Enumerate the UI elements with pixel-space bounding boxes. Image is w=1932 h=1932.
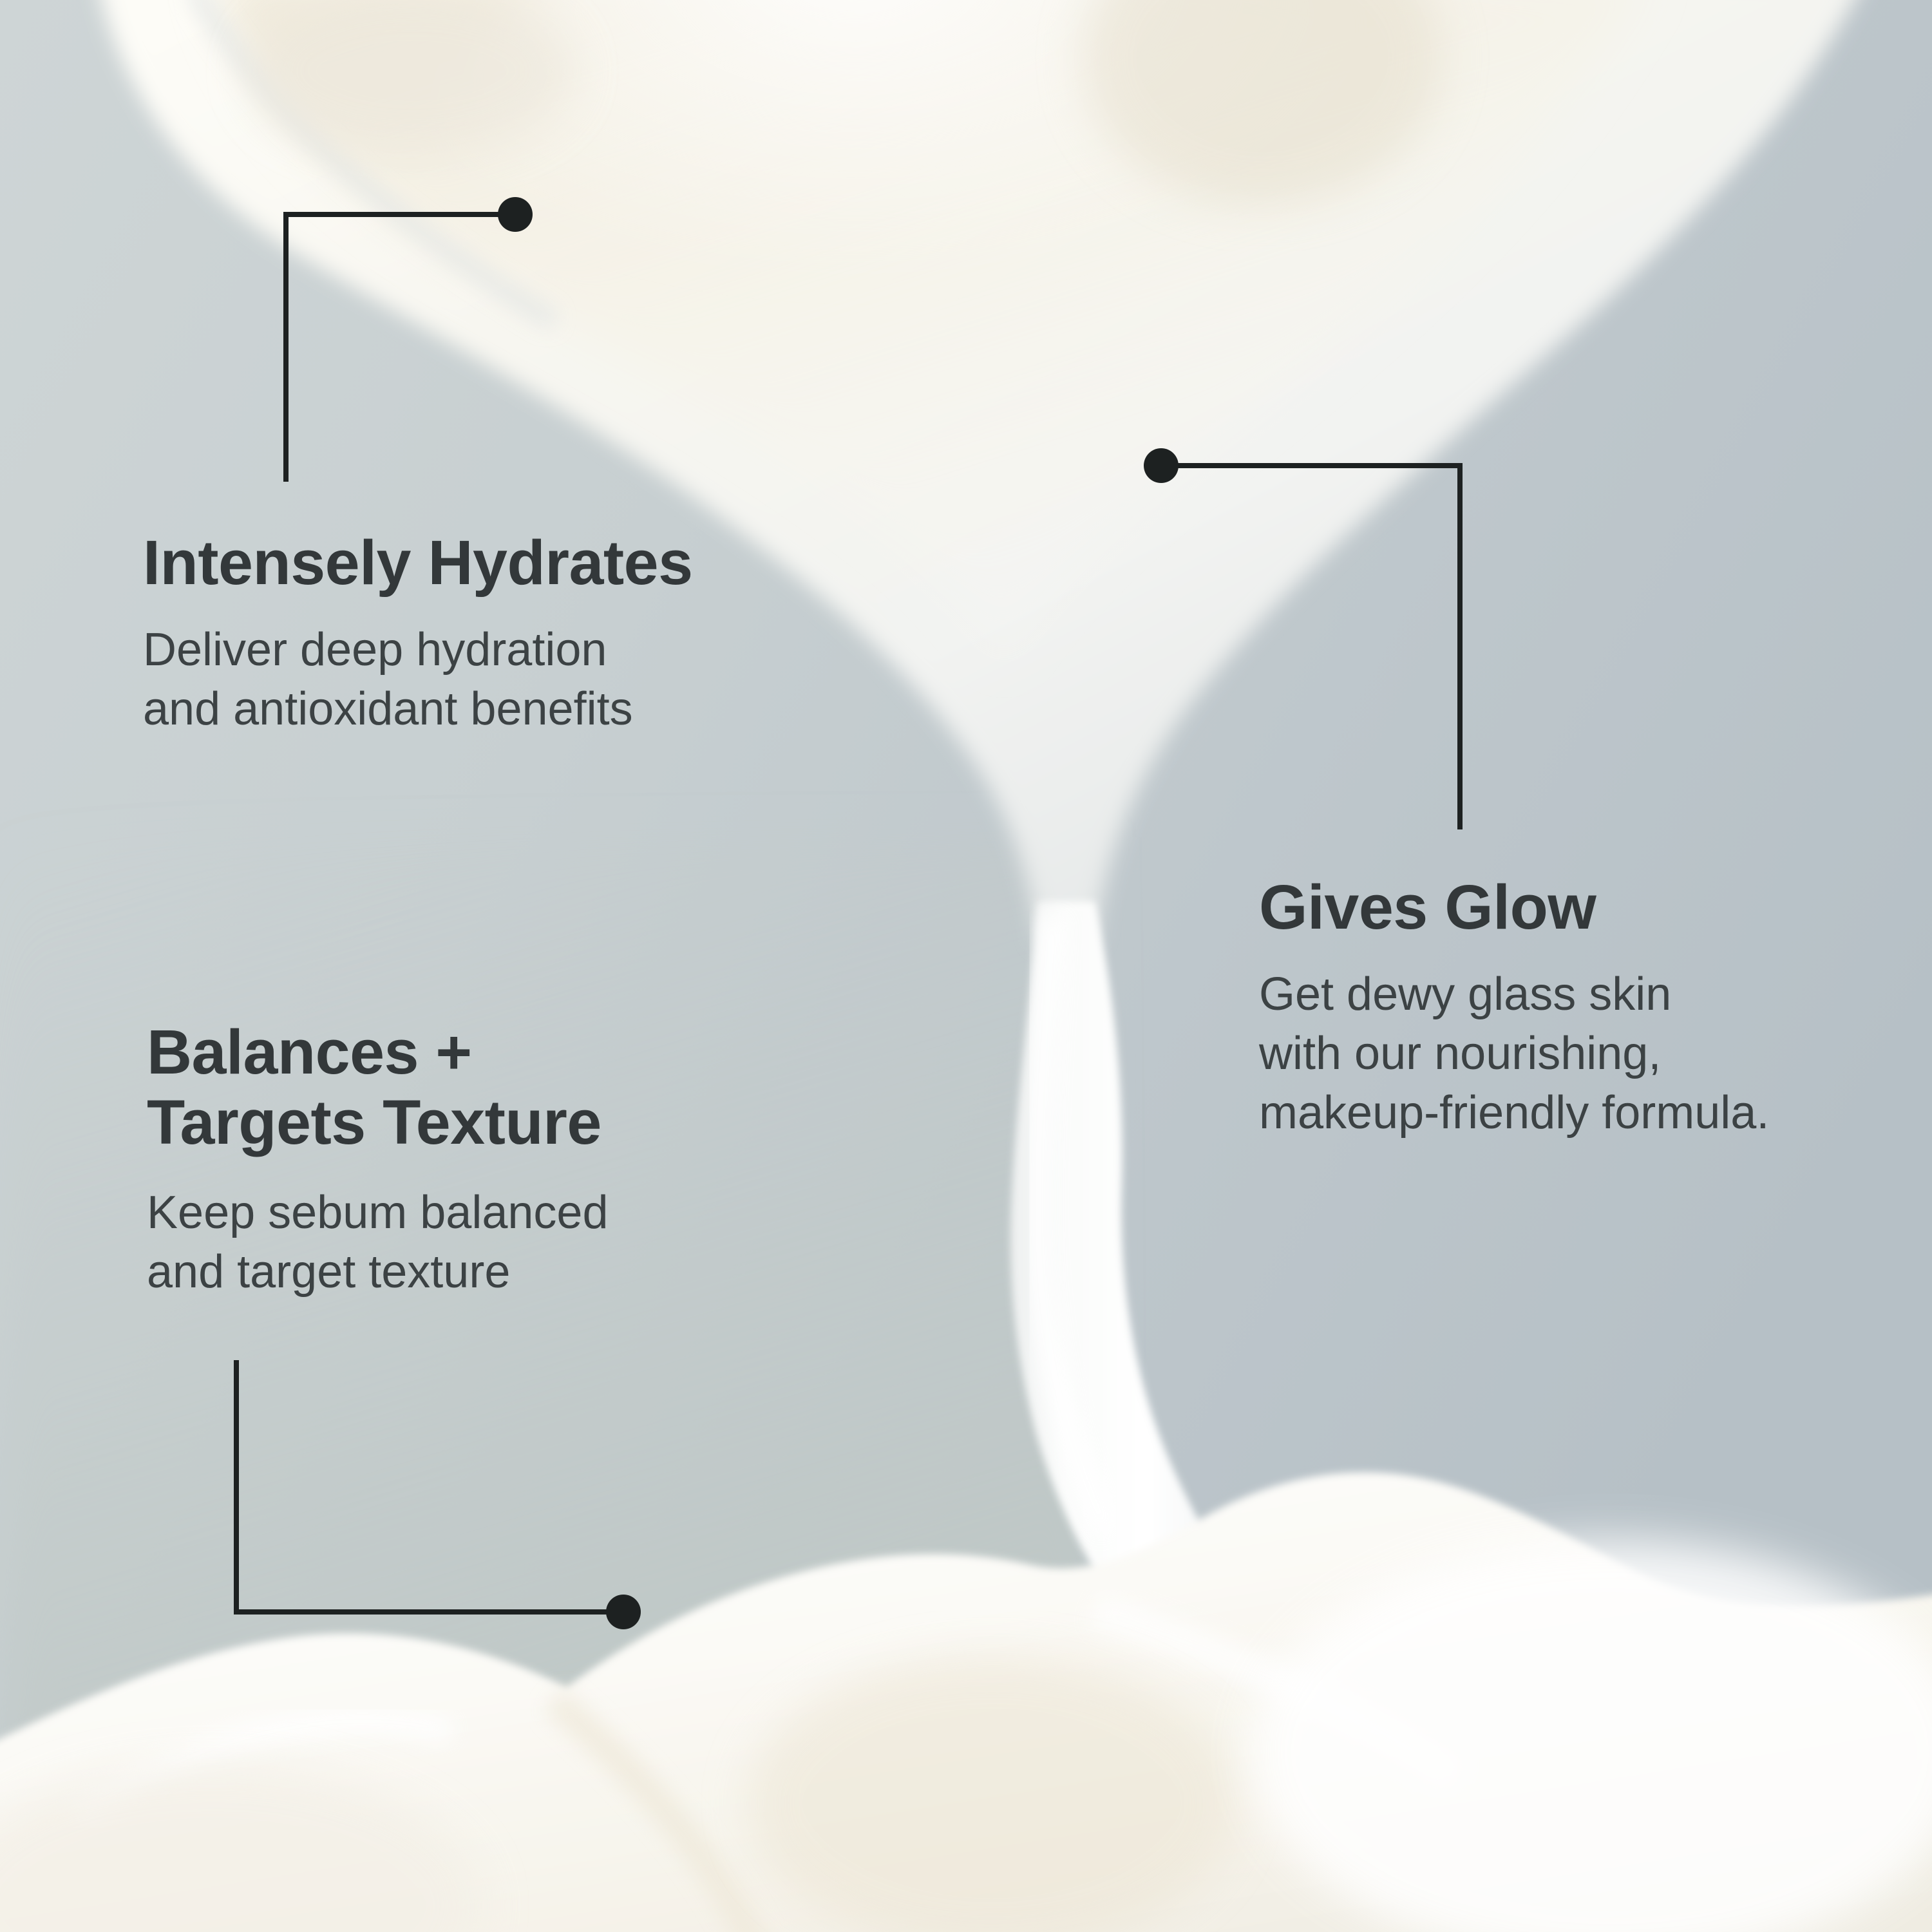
product-benefits-infographic: Intensely Hydrates Deliver deep hydratio… [0,0,1932,1932]
feature-description: Deliver deep hydration and antioxidant b… [143,620,693,739]
feature-block-balances-targets-texture: Balances + Targets Texture Keep sebum ba… [147,1018,609,1302]
feature-description: Get dewy glass skin with our nourishing,… [1259,965,1769,1142]
feature-title: Balances + Targets Texture [147,1018,609,1157]
feature-title: Intensely Hydrates [143,528,693,598]
feature-title: Gives Glow [1259,873,1769,943]
feature-block-gives-glow: Gives Glow Get dewy glass skin with our … [1259,873,1769,1142]
feature-description: Keep sebum balanced and target texture [147,1183,609,1302]
feature-block-intensely-hydrates: Intensely Hydrates Deliver deep hydratio… [143,528,693,739]
